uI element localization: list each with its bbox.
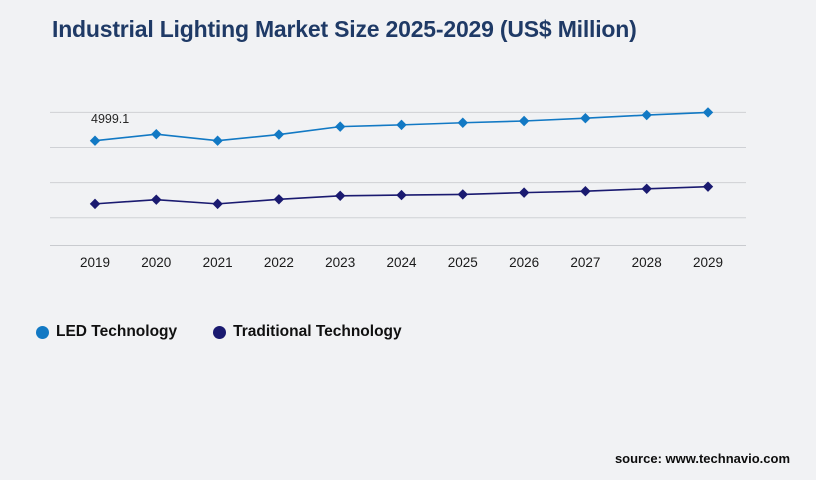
legend-label: LED Technology [56, 323, 177, 341]
data-point-marker[interactable] [212, 199, 222, 209]
x-axis-tick-2022: 2022 [264, 255, 294, 270]
x-axis-tick-2020: 2020 [141, 255, 171, 270]
plot-area: 4999.1 [50, 88, 746, 246]
data-point-marker[interactable] [642, 110, 652, 120]
chart-legend: LED TechnologyTraditional Technology [36, 323, 402, 341]
legend-item-2[interactable]: Traditional Technology [213, 323, 402, 341]
legend-item-1[interactable]: LED Technology [36, 323, 177, 341]
source-note: source: www.technavio.com [615, 451, 790, 466]
x-axis-tick-2026: 2026 [509, 255, 539, 270]
data-point-marker[interactable] [580, 113, 590, 123]
data-point-marker[interactable] [642, 184, 652, 194]
chart-plot-svg [50, 88, 746, 246]
data-point-marker[interactable] [90, 136, 100, 146]
data-point-marker[interactable] [151, 194, 161, 204]
x-axis-tick-2029: 2029 [693, 255, 723, 270]
data-point-marker[interactable] [703, 107, 713, 117]
data-point-marker[interactable] [274, 194, 284, 204]
data-point-marker[interactable] [519, 187, 529, 197]
x-axis-labels: 2019202020212022202320242025202620272028… [50, 255, 746, 275]
x-axis-line [50, 245, 746, 246]
data-point-marker[interactable] [212, 136, 222, 146]
x-axis-tick-2025: 2025 [448, 255, 478, 270]
data-point-label: 4999.1 [91, 112, 129, 126]
data-point-marker[interactable] [335, 191, 345, 201]
data-point-marker[interactable] [274, 129, 284, 139]
x-axis-tick-2021: 2021 [203, 255, 233, 270]
data-point-marker[interactable] [519, 116, 529, 126]
data-point-marker[interactable] [90, 199, 100, 209]
legend-label: Traditional Technology [233, 323, 402, 341]
data-point-marker[interactable] [335, 121, 345, 131]
data-point-marker[interactable] [458, 189, 468, 199]
x-axis-tick-2028: 2028 [632, 255, 662, 270]
legend-swatch-icon [36, 326, 49, 339]
data-point-marker[interactable] [580, 186, 590, 196]
data-point-marker[interactable] [396, 120, 406, 130]
x-axis-tick-2027: 2027 [570, 255, 600, 270]
x-axis-tick-2023: 2023 [325, 255, 355, 270]
x-axis-tick-2024: 2024 [386, 255, 416, 270]
data-point-marker[interactable] [396, 190, 406, 200]
legend-swatch-icon [213, 326, 226, 339]
data-point-marker[interactable] [458, 118, 468, 128]
chart-container: Industrial Lighting Market Size 2025-202… [0, 0, 816, 480]
data-point-marker[interactable] [151, 129, 161, 139]
chart-title: Industrial Lighting Market Size 2025-202… [52, 16, 637, 43]
x-axis-tick-2019: 2019 [80, 255, 110, 270]
